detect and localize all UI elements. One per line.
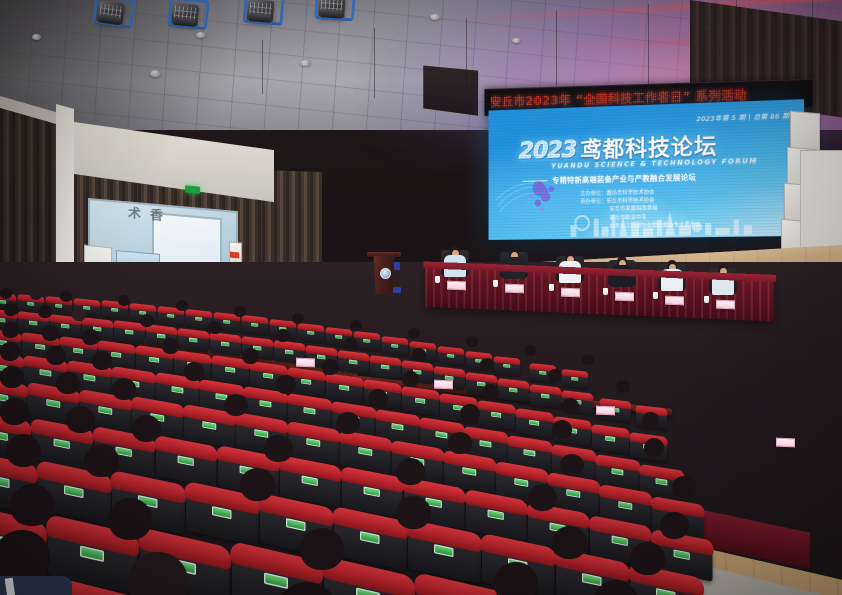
table-nameplate <box>505 284 524 294</box>
led-banner-side-panel <box>423 65 478 115</box>
podium-emblem-icon <box>380 268 391 279</box>
ceiling-speaker <box>196 32 206 38</box>
ceiling-wire <box>648 4 649 84</box>
exit-sign <box>185 185 200 193</box>
auditorium-seat[interactable] <box>562 369 589 390</box>
auditorium-seat[interactable] <box>516 408 554 440</box>
auditorium-seat[interactable] <box>338 350 370 376</box>
auditorium-seat[interactable] <box>354 331 381 352</box>
auditorium-seat[interactable] <box>498 378 530 404</box>
podium <box>369 252 399 296</box>
table-nameplate <box>716 300 735 310</box>
podium-blue-base <box>393 287 401 293</box>
auditorium-seat[interactable] <box>402 386 440 418</box>
table-nameplate <box>615 292 634 302</box>
auditorium-seat[interactable] <box>242 315 269 336</box>
wall-notice-red <box>230 252 239 259</box>
podium-blue-accent <box>394 262 400 270</box>
auditorium-seat[interactable] <box>478 400 516 432</box>
table-nameplate <box>447 281 466 291</box>
stage-light-fixture <box>167 0 204 30</box>
ceiling-speaker <box>32 34 41 40</box>
auditorium-seat[interactable] <box>438 346 465 367</box>
table-nameplate <box>561 288 580 298</box>
main-led-screen: 2023年第 5 期 | 总第 86 期 2023 鸢都科技论坛 YUANDU … <box>489 99 805 240</box>
auditorium-seat[interactable] <box>530 384 562 410</box>
ceiling-wire <box>556 10 557 86</box>
water-cup <box>704 296 709 303</box>
auditorium-seat[interactable] <box>494 356 521 377</box>
water-cup <box>653 292 658 299</box>
reserved-card <box>434 380 453 390</box>
auditorium-seat[interactable] <box>178 328 210 354</box>
stage-light-fixture <box>92 0 130 28</box>
table-nameplate <box>665 296 684 306</box>
water-cup <box>549 284 554 291</box>
reserved-card <box>776 438 795 448</box>
auditorium-seat[interactable] <box>382 336 409 357</box>
reserved-card <box>596 406 615 416</box>
reserved-card <box>296 358 315 368</box>
stage-light-fixture <box>242 0 278 25</box>
auditorium-seat[interactable] <box>370 355 402 381</box>
ceiling-speaker <box>150 70 161 77</box>
door-signage-text: 术香 <box>128 202 172 225</box>
auditorium-seat[interactable] <box>210 332 242 358</box>
ceiling-speaker <box>430 14 440 20</box>
water-cup <box>603 288 608 295</box>
water-cup <box>493 280 498 287</box>
screen-scanlines <box>489 99 805 240</box>
stage-light-fixture <box>314 0 350 21</box>
ceiling-speaker <box>300 60 311 66</box>
conference-hall-photo: 术香 安丘市2023年 “全国科技工作者日” 系列活动 <box>0 0 842 595</box>
water-cup <box>435 276 440 283</box>
ceiling-wire <box>374 28 375 98</box>
auditorium-seat[interactable] <box>298 323 325 344</box>
ceiling-wire <box>262 40 263 94</box>
ceiling-speaker <box>512 38 521 43</box>
auditorium-seat[interactable] <box>592 424 630 456</box>
